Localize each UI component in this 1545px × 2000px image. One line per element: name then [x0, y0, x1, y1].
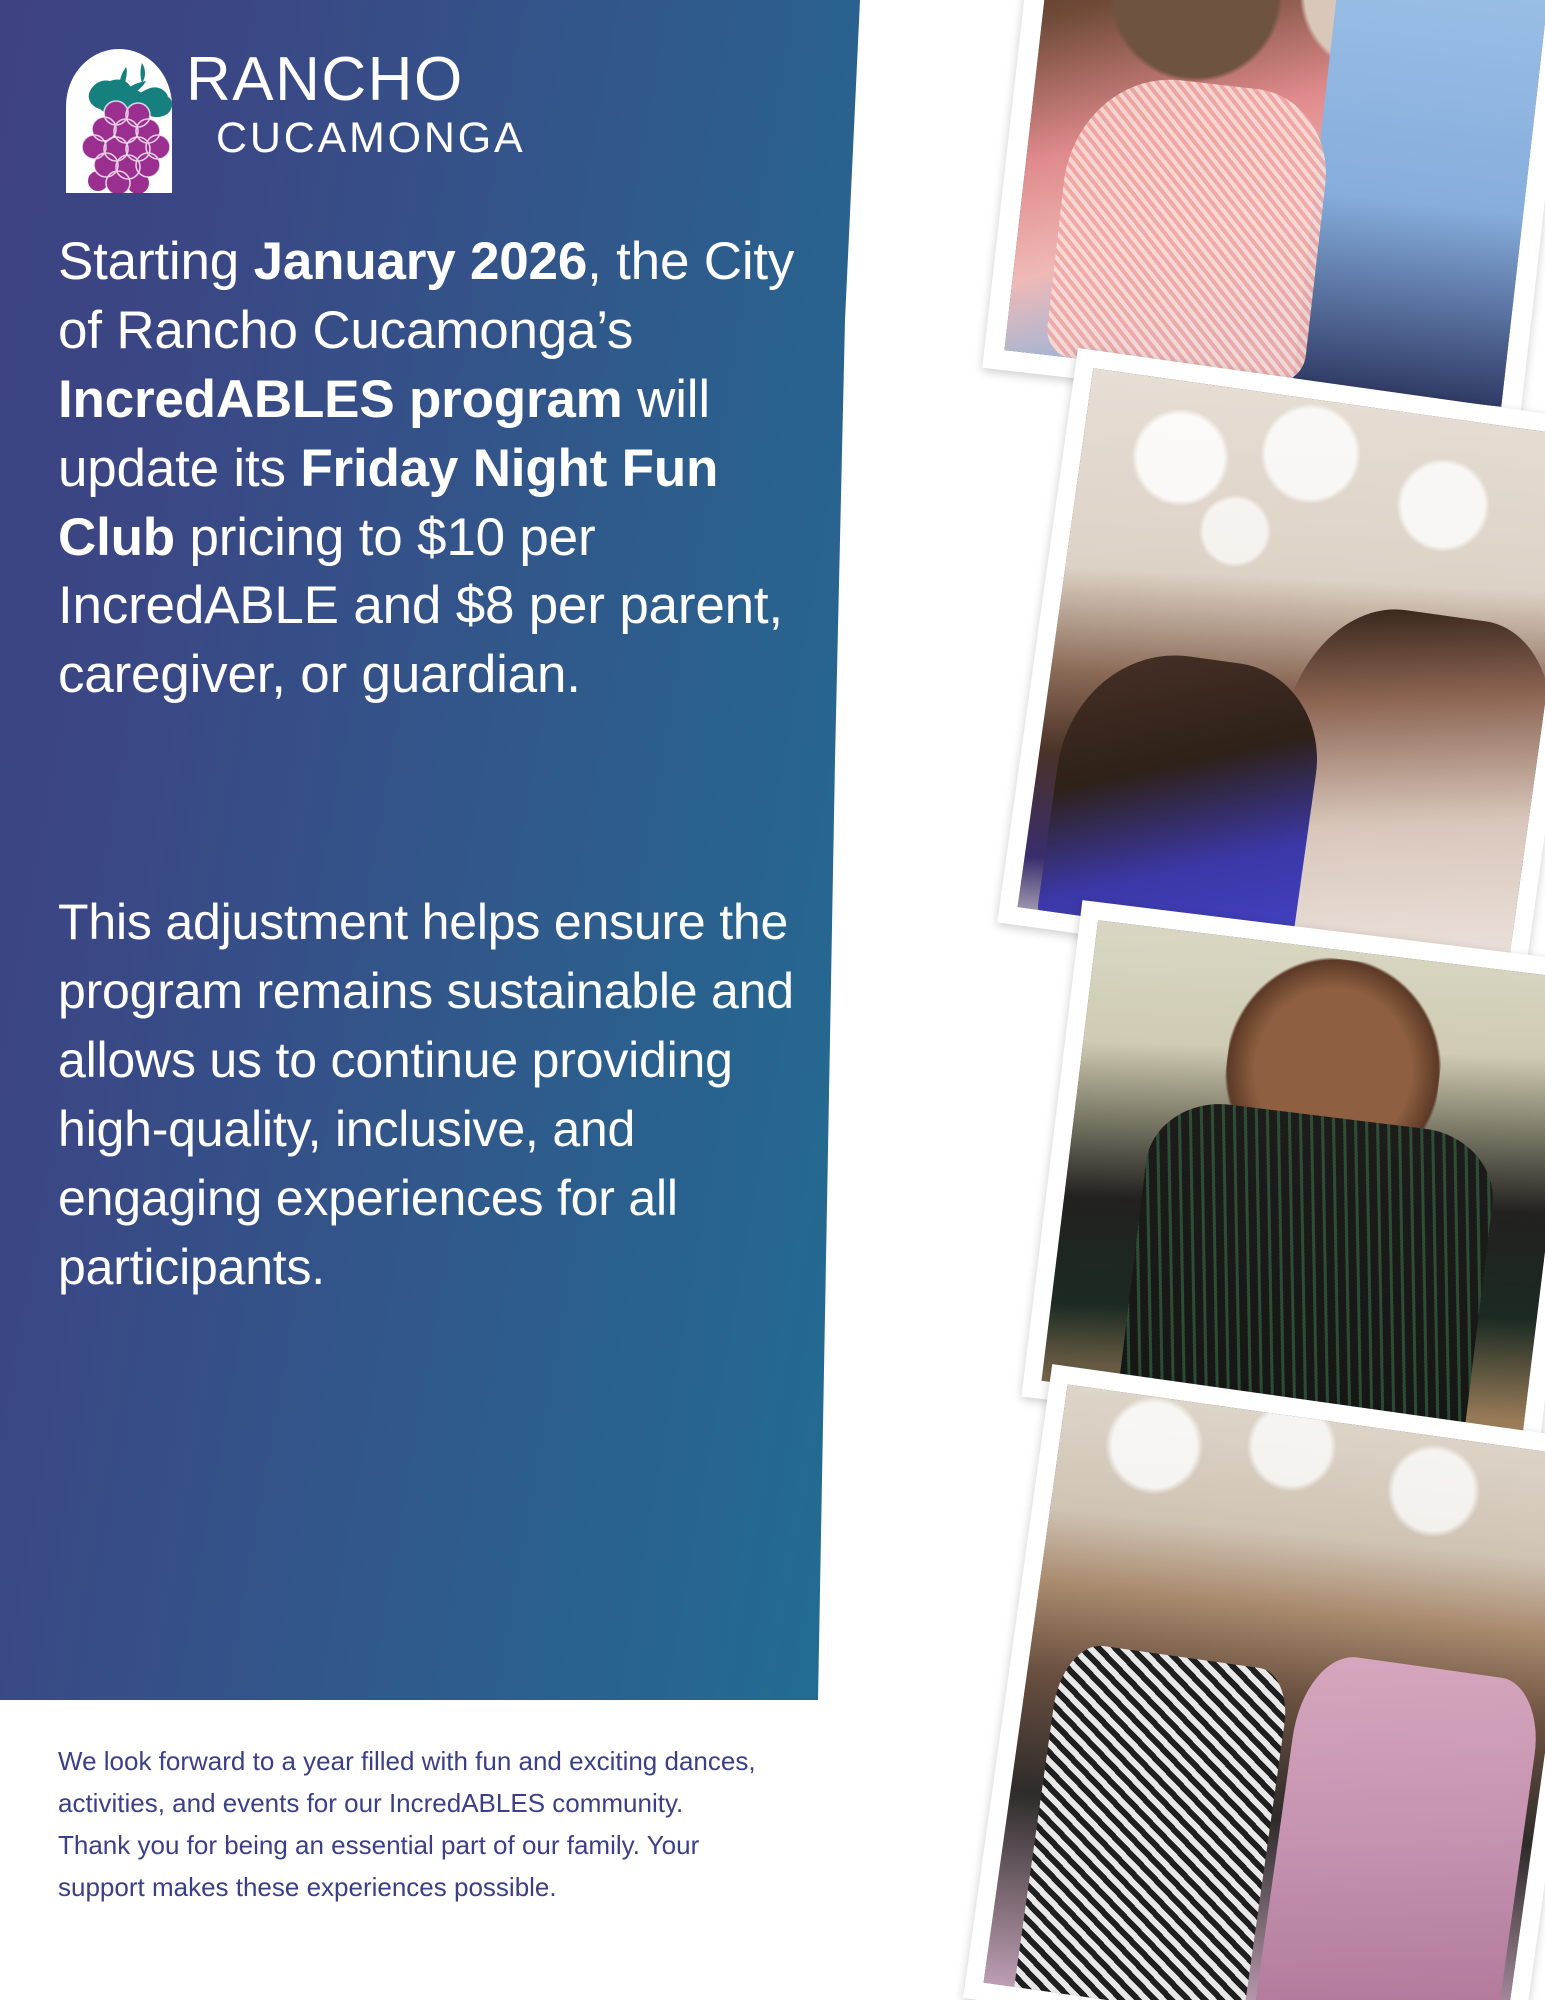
- logo-line-rancho: RANCHO: [186, 51, 536, 110]
- photo-two-men-dancing: [982, 0, 1545, 429]
- footer-line-4: support makes these experiences possible…: [58, 1866, 818, 1908]
- headline-bold-date: January 2026: [254, 232, 588, 291]
- flyer-page: RANCHO CUCAMONGA Starting January 2026, …: [0, 0, 1545, 2000]
- footer-note: We look forward to a year filled with fu…: [58, 1740, 818, 1908]
- photo-man-at-table: [1021, 900, 1545, 1460]
- footer-line-3: Thank you for being an essential part of…: [58, 1824, 818, 1866]
- photo-two-women-hugging: [997, 348, 1545, 996]
- headline-bold-program: IncredABLES program: [58, 370, 623, 429]
- footer-line-2: activities, and events for our IncredABL…: [58, 1782, 818, 1824]
- footer-line-1: We look forward to a year filled with fu…: [58, 1740, 818, 1782]
- city-logo: RANCHO CUCAMONGA: [58, 45, 538, 195]
- city-logo-wordmark: RANCHO CUCAMONGA: [186, 51, 536, 161]
- headline-paragraph: Starting January 2026, the City of Ranch…: [58, 228, 818, 710]
- photo-group-peace-signs: [963, 1364, 1545, 2000]
- headline-seg-1: Starting: [58, 232, 254, 291]
- logo-line-cucamonga: CUCAMONGA: [216, 116, 536, 161]
- grape-cluster-arch-logo-icon: [58, 45, 180, 193]
- body-paragraph: This adjustment helps ensure the program…: [58, 888, 818, 1302]
